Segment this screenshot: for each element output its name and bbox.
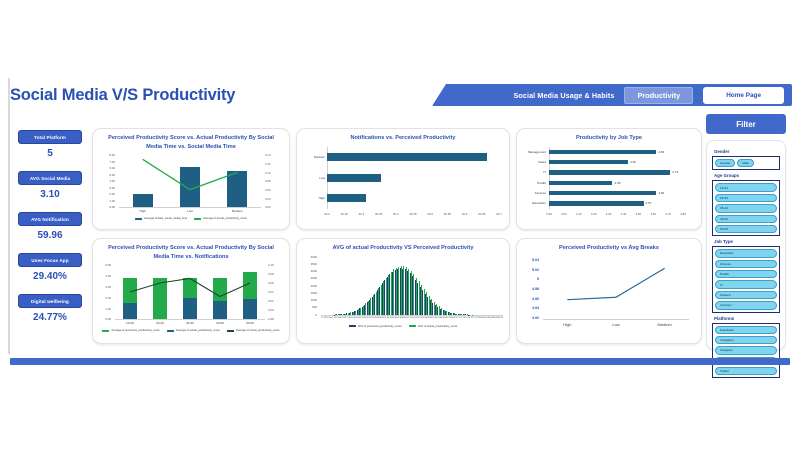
y-axis-category: Medium — [299, 155, 325, 159]
bar-value-label: 4.76 — [672, 170, 678, 174]
y-axis-category: Health — [517, 181, 546, 185]
x-axis-tick: 88 — [500, 317, 503, 319]
legend-swatch — [349, 325, 356, 328]
chart-legend: Average of daily_social_media_timeAverag… — [93, 217, 289, 220]
filter-options: 18-2425-3435-4445-5455-65 — [715, 183, 777, 233]
y-axis-tick: 1500 — [297, 291, 317, 295]
chart-title: Productivity by Job Type — [517, 129, 701, 143]
card-productivity-vs-social-time: Perceived Productivity Score vs. Actual … — [92, 128, 290, 230]
filter-chip[interactable]: 25-34 — [715, 194, 777, 202]
y-axis-tick: 4000 — [297, 255, 317, 259]
kpi-label: AVG Social Media — [18, 171, 82, 185]
bar — [327, 174, 381, 182]
x-axis-tick: 30.65 — [474, 212, 490, 216]
x-axis-tick: 3.90 — [541, 212, 557, 216]
bar — [327, 194, 366, 202]
kpi-label: Digital wellbeing — [18, 294, 82, 308]
bar — [549, 150, 656, 154]
bar — [549, 160, 628, 164]
x-axis-tick: 4.70 — [660, 212, 676, 216]
y-axis-category: Low — [299, 176, 325, 180]
x-axis-tick: 4.10 — [571, 212, 587, 216]
x-axis-tick: 30.4 — [388, 212, 404, 216]
home-page-button[interactable]: Home Page — [703, 87, 784, 104]
bottom-accent-bar — [10, 358, 790, 365]
chart-title: Perceived Productivity Score vs. Actual … — [93, 239, 289, 261]
plot-area: 5.004.003.002.001.000.003.103.083.063.04… — [93, 261, 289, 329]
filter-chip[interactable]: Telegram — [715, 346, 777, 354]
legend-item: Average of actual_productivity_score — [194, 217, 247, 220]
legend-item: Average of social_productivity_score — [227, 329, 280, 332]
x-axis-tick: 4.60 — [645, 212, 661, 216]
kpi-card: Digital wellbeing24.77% — [18, 294, 82, 329]
legend-swatch — [227, 330, 234, 333]
dashboard-page: Social Media V/S Productivity Social Med… — [0, 0, 800, 460]
filter-chip[interactable]: Finance — [715, 260, 777, 268]
navigation-band: Social Media Usage & Habits Productivity… — [432, 84, 792, 106]
chart-title: Notifications vs. Perceived Productivity — [297, 129, 509, 143]
plot-area: 4000350030002500200015001000500017181920… — [297, 253, 509, 325]
x-axis-tick: 30.6 — [457, 212, 473, 216]
bar — [327, 153, 487, 161]
nav-section-label: Social Media Usage & Habits — [514, 91, 615, 100]
x-axis-tick: 4.30 — [601, 212, 617, 216]
kpi-label: AVG Notification — [18, 212, 82, 226]
filter-chip[interactable]: Unempl... — [715, 301, 777, 309]
y-axis-line — [549, 147, 550, 209]
card-productivity-vs-notifications: Perceived Productivity Score vs. Actual … — [92, 238, 290, 344]
y-axis-category: Management — [517, 150, 546, 154]
legend-label: Average of perceived_productivity_score — [111, 329, 160, 332]
filter-chip[interactable]: Twitter — [715, 367, 777, 375]
legend-item: AVG of actual_productivity_score — [409, 325, 458, 328]
legend-label: Average of actual_productivity_score — [203, 217, 247, 220]
filter-chip[interactable]: Student — [715, 291, 777, 299]
filter-chip[interactable]: Health — [715, 270, 777, 278]
kpi-value: 29.40% — [18, 267, 82, 288]
x-axis-tick: 30.7 — [491, 212, 507, 216]
plot-area: 5.045.0254.984.964.944.92HighLowMedium — [517, 253, 701, 333]
y-axis-tick: 3500 — [297, 262, 317, 266]
kpi-value: 59.96 — [18, 226, 82, 247]
y-axis-category: High — [299, 196, 325, 200]
plot-area: MediumLowHigh30.230.2530.330.3530.430.45… — [297, 143, 509, 221]
filter-group-platforms: FacebookInstagramTelegramTiktokTwitter — [712, 323, 780, 379]
filter-group-label: Platforms — [714, 316, 780, 321]
x-axis-tick: 4.00 — [556, 212, 572, 216]
filter-options: FacebookInstagramTelegramTiktokTwitter — [715, 326, 777, 376]
card-notifications: Notifications vs. Perceived Productivity… — [296, 128, 510, 230]
bar-value-label: 4.66 — [658, 191, 664, 195]
chart-legend: AVG of perceived_productivity_scoreAVG o… — [297, 325, 509, 328]
x-axis-tick: 4.80 — [675, 212, 691, 216]
x-axis-category: Medium — [640, 322, 689, 327]
filter-group-label: Job Type — [714, 239, 780, 244]
filter-chip[interactable]: 45-54 — [715, 215, 777, 223]
x-axis-tick: 30.35 — [371, 212, 387, 216]
x-axis-tick: 30.5 — [422, 212, 438, 216]
chart-legend: Average of perceived_productivity_scoreA… — [93, 329, 289, 332]
legend-label: Average of actual_productivity_score — [176, 329, 220, 332]
legend-item: Average of perceived_productivity_score — [102, 329, 160, 332]
filter-chip[interactable]: 35-44 — [715, 204, 777, 212]
x-axis-tick: 4.20 — [586, 212, 602, 216]
filter-chip[interactable]: IT — [715, 280, 777, 288]
chart-title: Perceived Productivity vs Avg Breaks — [517, 239, 701, 253]
bar — [549, 181, 612, 185]
legend-item: AVG of perceived_productivity_score — [349, 325, 402, 328]
legend-swatch — [409, 325, 416, 328]
y-axis-category: Finance — [517, 191, 546, 195]
filter-options: FemaleMale — [715, 159, 777, 167]
series-line — [517, 253, 701, 333]
legend-label: AVG of perceived_productivity_score — [358, 325, 402, 328]
kpi-card: Total Platform5 — [18, 130, 82, 165]
legend-swatch — [102, 330, 109, 333]
x-axis-tick: 30.3 — [353, 212, 369, 216]
y-axis-category: IT — [517, 170, 546, 174]
x-axis-tick: 30.2 — [319, 212, 335, 216]
y-axis-category: Education — [517, 201, 546, 205]
kpi-card: AVG Notification59.96 — [18, 212, 82, 247]
legend-swatch — [194, 218, 201, 221]
filter-button[interactable]: Filter — [706, 114, 786, 134]
series-line — [93, 151, 289, 217]
y-axis-tick: 2000 — [297, 284, 317, 288]
legend-item: Average of daily_social_media_time — [135, 217, 187, 220]
x-axis-line — [321, 315, 503, 316]
filter-chip[interactable]: Male — [737, 159, 754, 167]
kpi-card: AVG Social Media3.10 — [18, 171, 82, 206]
x-axis-tick: 4.50 — [630, 212, 646, 216]
y-axis-tick: 500 — [297, 305, 317, 309]
filter-group-age-groups: 18-2425-3435-4445-5455-65 — [712, 180, 780, 236]
plot-area: Management4.66Sales4.46IT4.76Health4.35F… — [517, 143, 701, 221]
x-axis-tick: 4.40 — [615, 212, 631, 216]
filter-chip[interactable]: Facebook — [715, 326, 777, 334]
filter-options: EducationFinanceHealthITStudentUnempl... — [715, 249, 777, 309]
bar-value-label: 4.46 — [630, 160, 636, 164]
bar-value-label: 4.66 — [658, 150, 664, 154]
filter-panel: GenderFemaleMaleAge Groups18-2425-3435-4… — [706, 140, 786, 350]
y-axis-tick: 0 — [297, 313, 317, 317]
legend-swatch — [167, 330, 174, 333]
kpi-value: 24.77% — [18, 308, 82, 329]
filter-group-label: Gender — [714, 149, 780, 154]
page-title: Social Media V/S Productivity — [10, 86, 235, 105]
legend-label: Average of daily_social_media_time — [144, 217, 187, 220]
chart-title: AVG of actual Productivity VS Perceived … — [297, 239, 509, 253]
bar — [549, 170, 670, 174]
y-axis-category: Sales — [517, 160, 546, 164]
legend-item: Average of actual_productivity_score — [167, 329, 220, 332]
x-axis-category: Low — [592, 322, 641, 327]
card-breaks: Perceived Productivity vs Avg Breaks 5.0… — [516, 238, 702, 344]
kpi-value: 3.10 — [18, 185, 82, 206]
filter-chip[interactable]: Female — [715, 159, 735, 167]
tab-productivity[interactable]: Productivity — [624, 87, 693, 104]
kpi-label: Uses Focus App — [18, 253, 82, 267]
filter-group-gender: FemaleMale — [712, 156, 780, 170]
x-axis-tick: 30.25 — [336, 212, 352, 216]
filter-chip[interactable]: 18-24 — [715, 183, 777, 191]
bar-value-label: 4.57 — [646, 201, 652, 205]
canvas-left-rule — [8, 78, 10, 354]
kpi-card: Uses Focus App29.40% — [18, 253, 82, 288]
legend-label: Average of social_productivity_score — [236, 329, 280, 332]
card-distribution: AVG of actual Productivity VS Perceived … — [296, 238, 510, 344]
plot-area: 8.007.006.005.004.003.002.001.000.003.14… — [93, 151, 289, 217]
legend-label: AVG of actual_productivity_score — [418, 325, 458, 328]
filter-chip[interactable]: Education — [715, 249, 777, 257]
filter-chip[interactable]: 55-65 — [715, 225, 777, 233]
y-axis-tick: 2500 — [297, 276, 317, 280]
x-axis-tick: 30.55 — [439, 212, 455, 216]
filter-group-label: Age Groups — [714, 173, 780, 178]
legend-swatch — [135, 218, 142, 221]
card-job-type: Productivity by Job Type Management4.66S… — [516, 128, 702, 230]
y-axis-tick: 3000 — [297, 269, 317, 273]
bar — [549, 201, 644, 205]
x-axis-tick: 30.45 — [405, 212, 421, 216]
kpi-column: Total Platform5AVG Social Media3.10AVG N… — [18, 130, 82, 335]
filter-chip[interactable]: Instagram — [715, 336, 777, 344]
kpi-label: Total Platform — [18, 130, 82, 144]
bar-value-label: 4.35 — [614, 181, 620, 185]
chart-title: Perceived Productivity Score vs. Actual … — [93, 129, 289, 151]
kpi-value: 5 — [18, 144, 82, 165]
x-axis-category: High — [543, 322, 592, 327]
bar — [549, 191, 656, 195]
series-line — [93, 261, 289, 329]
filter-group-job-type: EducationFinanceHealthITStudentUnempl... — [712, 246, 780, 312]
y-axis-tick: 1000 — [297, 298, 317, 302]
